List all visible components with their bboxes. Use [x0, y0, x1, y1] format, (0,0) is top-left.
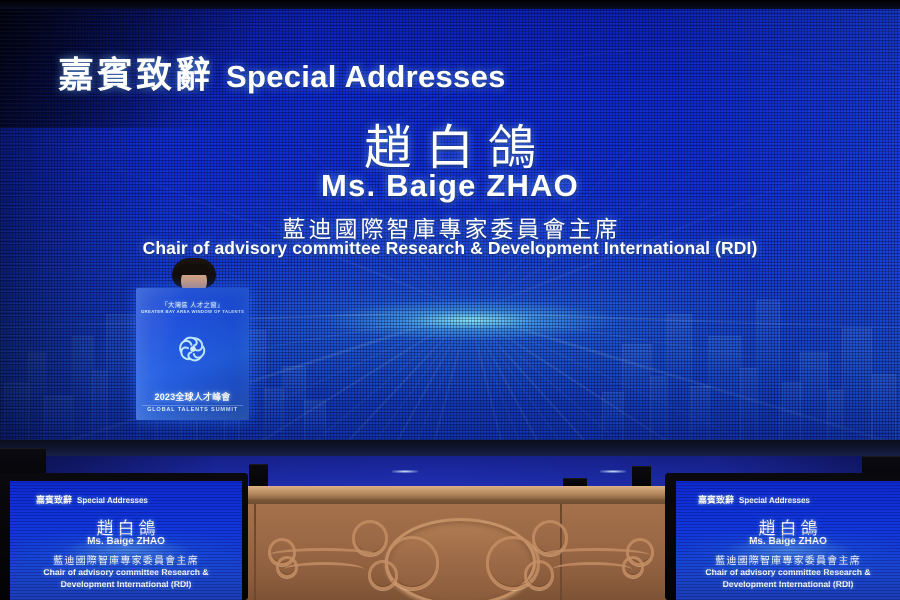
ceiling-dark-band — [0, 0, 900, 9]
screen-header-cn: 嘉賓致辭 — [58, 46, 214, 98]
speaker-name-en: Ms. Baige ZHAO — [0, 168, 900, 204]
screen-header-en: Special Addresses — [226, 59, 506, 95]
podium-gloss — [136, 288, 249, 420]
panel-scroll-circle — [368, 560, 398, 590]
right-monitor-pixel-grid — [676, 481, 900, 600]
skyline-building — [282, 366, 306, 440]
panel-scroll-circle — [524, 560, 554, 590]
skyline-building — [304, 400, 326, 440]
screen-header: 嘉賓致辭 Special Addresses — [58, 46, 506, 98]
speaker-podium: 「大灣區 人才之窗」 GREATER BAY AREA WINDOW OF TA… — [136, 288, 249, 420]
stage-speaker-box — [632, 466, 651, 487]
panel-scroll-wave — [552, 562, 632, 577]
stage-speaker-box — [249, 464, 268, 487]
skyline-building — [264, 388, 284, 440]
right-monitor-screen[interactable]: 嘉賓致辭 Special Addresses 趙白鴿 Ms. Baige ZHA… — [676, 481, 900, 600]
panel-seam — [254, 504, 256, 600]
speaker-fringe — [178, 264, 210, 275]
panel-scroll-wave — [284, 562, 364, 577]
left-monitor-screen[interactable]: 嘉賓致辭 Special Addresses 趙白鴿 Ms. Baige ZHA… — [10, 481, 242, 600]
skyline-building — [602, 392, 624, 440]
speaker-role-en: Chair of advisory committee Research & D… — [0, 238, 900, 259]
wall-highlight — [600, 470, 626, 473]
wall-highlight — [392, 470, 418, 473]
left-monitor-pixel-grid — [10, 481, 242, 600]
conference-stage-photo: 嘉賓致辭 Special Addresses 趙白鴿 Ms. Baige ZHA… — [0, 0, 900, 600]
